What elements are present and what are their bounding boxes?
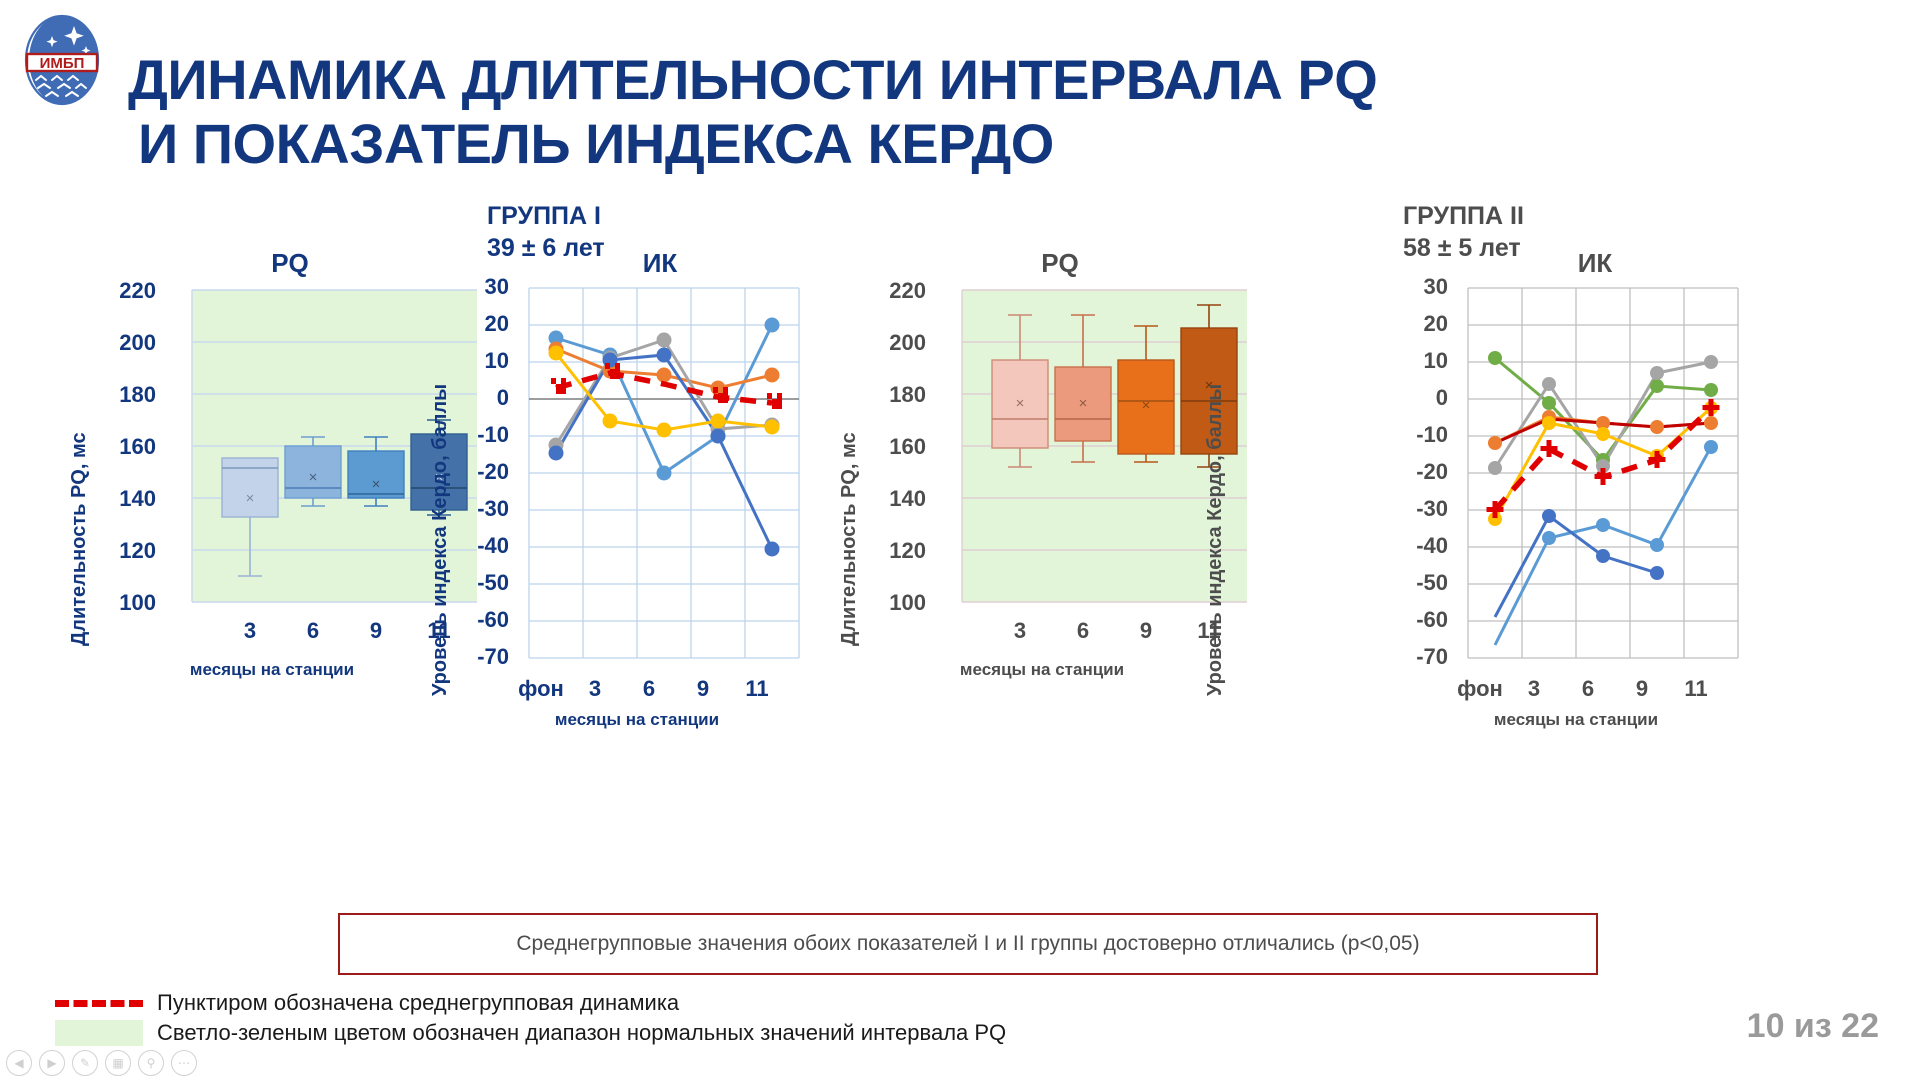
significance-note-text: Среднегрупповые значения обоих показател… xyxy=(516,932,1419,956)
x-tick: фон xyxy=(1450,678,1510,700)
x-tick: 11 xyxy=(1666,678,1726,700)
svg-text:×: × xyxy=(246,490,255,507)
y-tick: 0 xyxy=(409,387,509,409)
y-tick: -60 xyxy=(409,609,509,631)
logo-text: ИМБП xyxy=(40,55,85,72)
x-tick: 9 xyxy=(1612,678,1672,700)
x-tick: 6 xyxy=(619,678,679,700)
title-line-2: И ПОКАЗАТЕЛЬ ИНДЕКСА КЕРДО xyxy=(128,112,1828,176)
x-tick: фон xyxy=(511,678,571,700)
svg-text:×: × xyxy=(1079,395,1088,412)
plot-area xyxy=(1452,286,1752,686)
next-slide-icon[interactable]: ▶ xyxy=(39,1050,65,1076)
y-tick: -20 xyxy=(1348,461,1448,483)
chart-title: PQ xyxy=(120,248,460,279)
y-tick: 20 xyxy=(1348,313,1448,335)
y-tick: -50 xyxy=(1348,572,1448,594)
y-tick: -60 xyxy=(1348,609,1448,631)
y-tick: 140 xyxy=(824,488,926,510)
y-tick: 160 xyxy=(824,436,926,458)
chart-ik-group-1: ИК Уровень индекса Кердо, баллы xyxy=(425,248,825,718)
y-tick: 140 xyxy=(54,488,156,510)
red-dashed-line-icon xyxy=(55,988,143,1018)
green-band-icon xyxy=(55,1020,143,1046)
y-tick: 120 xyxy=(54,540,156,562)
y-tick: 120 xyxy=(824,540,926,562)
y-tick: 220 xyxy=(824,280,926,302)
y-tick: -40 xyxy=(409,535,509,557)
y-tick: 220 xyxy=(54,280,156,302)
x-tick: 6 xyxy=(1055,620,1111,642)
zoom-icon[interactable]: ⚲ xyxy=(138,1050,164,1076)
y-tick: 10 xyxy=(1348,350,1448,372)
y-tick: 160 xyxy=(54,436,156,458)
y-tick: 200 xyxy=(824,332,926,354)
svg-text:×: × xyxy=(309,469,318,486)
group-1-name: ГРУППА I xyxy=(487,200,605,232)
y-tick: -50 xyxy=(409,572,509,594)
y-tick: -70 xyxy=(1348,646,1448,668)
y-tick: -30 xyxy=(409,498,509,520)
y-axis-label: Уровень индекса Кердо, баллы xyxy=(1204,384,1227,696)
legend: Пунктиром обозначена среднегрупповая дин… xyxy=(55,988,1355,1048)
svg-text:×: × xyxy=(372,476,381,493)
prev-slide-icon[interactable]: ◀ xyxy=(6,1050,32,1076)
x-tick: 6 xyxy=(1558,678,1618,700)
imbp-logo: ИМБП xyxy=(12,10,112,110)
x-tick: 3 xyxy=(992,620,1048,642)
presentation-toolbar[interactable]: ◀ ▶ ✎ ▦ ⚲ ⋯ xyxy=(6,1050,197,1076)
y-tick: 180 xyxy=(824,384,926,406)
chart-title: ИК xyxy=(505,248,815,279)
legend-item-normal-range: Светло-зеленым цветом обозначен диапазон… xyxy=(55,1018,1355,1048)
legend-label: Светло-зеленым цветом обозначен диапазон… xyxy=(157,1020,1006,1046)
x-tick: 3 xyxy=(565,678,625,700)
y-tick: 100 xyxy=(824,592,926,614)
y-tick: -70 xyxy=(409,646,509,668)
y-tick: 30 xyxy=(409,276,509,298)
y-tick: -10 xyxy=(1348,424,1448,446)
svg-text:×: × xyxy=(1016,395,1025,412)
more-options-icon[interactable]: ⋯ xyxy=(171,1050,197,1076)
x-tick: 11 xyxy=(727,678,787,700)
legend-label: Пунктиром обозначена среднегрупповая дин… xyxy=(157,990,679,1016)
y-tick: -40 xyxy=(1348,535,1448,557)
chart-title: PQ xyxy=(890,248,1230,279)
svg-text:×: × xyxy=(1142,397,1151,414)
y-tick: 180 xyxy=(54,384,156,406)
x-tick: 3 xyxy=(1504,678,1564,700)
page-title: ДИНАМИКА ДЛИТЕЛЬНОСТИ ИНТЕРВАЛА PQ И ПОК… xyxy=(128,48,1828,176)
chart-title: ИК xyxy=(1440,248,1750,279)
y-tick: 30 xyxy=(1348,276,1448,298)
x-tick: 9 xyxy=(1118,620,1174,642)
chart-ik-group-2: ИК Уровень индекса Кердо, баллы xyxy=(1200,248,1600,718)
y-tick: -30 xyxy=(1348,498,1448,520)
x-tick: 9 xyxy=(673,678,733,700)
x-tick: 6 xyxy=(285,620,341,642)
chart-pq-group-2: PQ Длительность PQ, мс × xyxy=(830,248,1250,718)
x-tick: 3 xyxy=(222,620,278,642)
x-axis-label: месяцы на станции xyxy=(102,660,442,680)
page-number: 10 из 22 xyxy=(1747,1007,1879,1046)
title-line-1: ДИНАМИКА ДЛИТЕЛЬНОСТИ ИНТЕРВАЛА PQ xyxy=(128,48,1377,111)
plot-area xyxy=(513,286,813,686)
y-tick: 0 xyxy=(1348,387,1448,409)
y-tick: 10 xyxy=(409,350,509,372)
x-axis-label: месяцы на станции xyxy=(487,710,787,730)
group-2-name: ГРУППА II xyxy=(1403,200,1524,232)
y-tick: -20 xyxy=(409,461,509,483)
significance-note: Среднегрупповые значения обоих показател… xyxy=(338,913,1598,975)
pen-icon[interactable]: ✎ xyxy=(72,1050,98,1076)
slides-grid-icon[interactable]: ▦ xyxy=(105,1050,131,1076)
y-tick: 100 xyxy=(54,592,156,614)
x-axis-label: месяцы на станции xyxy=(872,660,1212,680)
legend-item-mean-dynamics: Пунктиром обозначена среднегрупповая дин… xyxy=(55,988,1355,1018)
x-axis-label: месяцы на станции xyxy=(1426,710,1726,730)
y-tick: 200 xyxy=(54,332,156,354)
y-tick: -10 xyxy=(409,424,509,446)
x-tick: 9 xyxy=(348,620,404,642)
y-tick: 20 xyxy=(409,313,509,335)
